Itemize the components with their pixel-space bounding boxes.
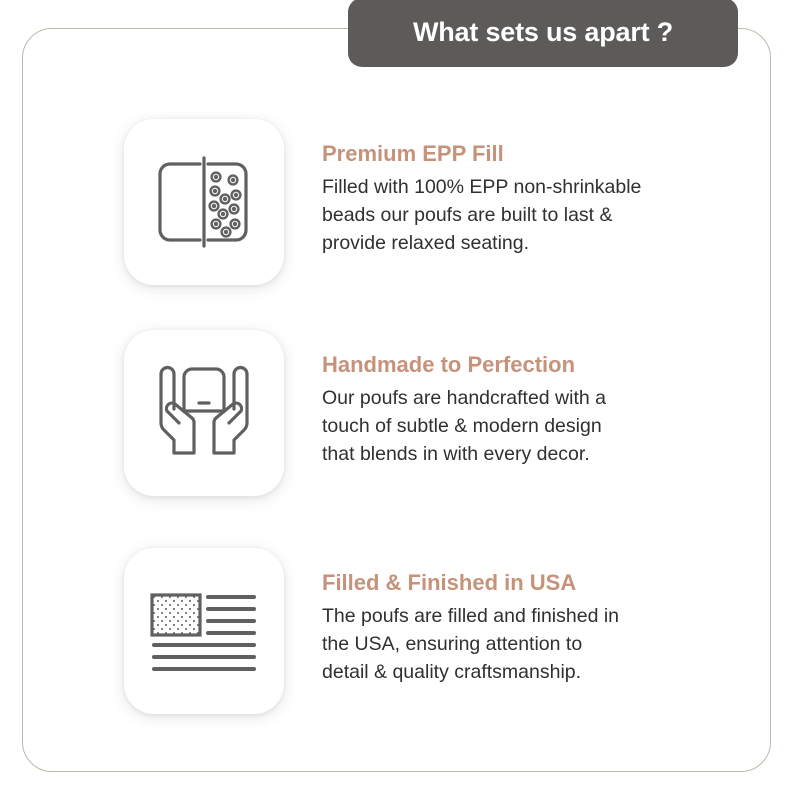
- feature-body-line: the USA, ensuring attention to: [322, 631, 722, 659]
- feature-icon-card: [124, 119, 284, 285]
- feature-icon-card: [124, 548, 284, 714]
- feature-list: Premium EPP Fill Filled with 100% EPP no…: [0, 0, 800, 800]
- feature-body-line: beads our poufs are built to last &: [322, 202, 722, 230]
- feature-text-block: Premium EPP Fill Filled with 100% EPP no…: [284, 119, 744, 257]
- feature-item: Filled & Finished in USA The poufs are f…: [124, 548, 744, 716]
- feature-body-line: that blends in with every decor.: [322, 441, 722, 469]
- feature-body: The poufs are filled and finished in the…: [322, 603, 722, 686]
- feature-body: Filled with 100% EPP non-shrinkable bead…: [322, 174, 722, 257]
- feature-body-line: Our poufs are handcrafted with a: [322, 385, 722, 413]
- feature-body-line: provide relaxed seating.: [322, 230, 722, 258]
- feature-body: Our poufs are handcrafted with a touch o…: [322, 385, 722, 468]
- epp-bead-fill-icon: [148, 152, 260, 252]
- feature-title: Premium EPP Fill: [322, 142, 744, 166]
- infographic-panel: What sets us apart ?: [0, 0, 800, 800]
- feature-item: Premium EPP Fill Filled with 100% EPP no…: [124, 119, 744, 287]
- feature-body-line: The poufs are filled and finished in: [322, 603, 722, 631]
- usa-flag-icon: [148, 591, 260, 671]
- feature-text-block: Handmade to Perfection Our poufs are han…: [284, 330, 744, 468]
- feature-item: Handmade to Perfection Our poufs are han…: [124, 330, 744, 498]
- feature-body-line: detail & quality craftsmanship.: [322, 659, 722, 687]
- feature-text-block: Filled & Finished in USA The poufs are f…: [284, 548, 744, 686]
- feature-body-line: Filled with 100% EPP non-shrinkable: [322, 174, 722, 202]
- feature-title: Filled & Finished in USA: [322, 571, 744, 595]
- feature-icon-card: [124, 330, 284, 496]
- feature-title: Handmade to Perfection: [322, 353, 744, 377]
- feature-body-line: touch of subtle & modern design: [322, 413, 722, 441]
- hands-holding-box-icon: [148, 361, 260, 465]
